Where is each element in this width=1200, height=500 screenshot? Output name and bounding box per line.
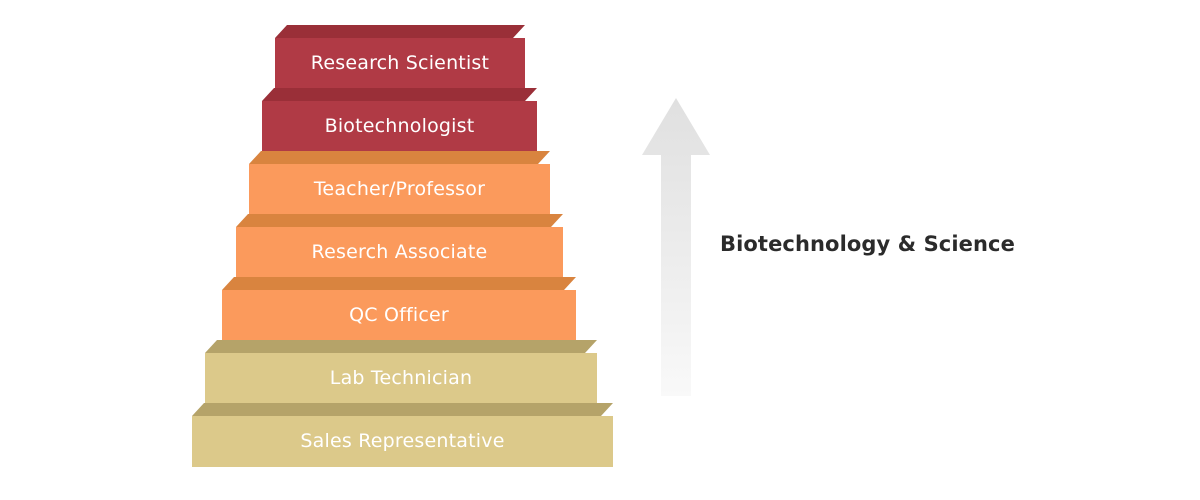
- pyramid-tier-top-face: [192, 403, 613, 416]
- pyramid-tier[interactable]: Biotechnologist: [262, 88, 537, 152]
- pyramid-tier-top-face: [262, 88, 537, 101]
- pyramid-tier-label: Research Scientist: [311, 54, 489, 73]
- upward-growth-arrow: [640, 96, 712, 398]
- pyramid-tier-top-face: [236, 214, 563, 227]
- pyramid-tier-top-face: [249, 151, 550, 164]
- pyramid-tier-front-face: Sales Representative: [192, 416, 613, 467]
- pyramid-tier-front-face: QC Officer: [222, 290, 576, 341]
- career-pyramid-infographic: Research ScientistBiotechnologistTeacher…: [0, 0, 1200, 500]
- pyramid-tier[interactable]: Sales Representative: [192, 403, 613, 467]
- pyramid-tier[interactable]: QC Officer: [222, 277, 576, 341]
- career-pyramid: Research ScientistBiotechnologistTeacher…: [0, 0, 660, 500]
- pyramid-tier-label: Sales Representative: [300, 432, 504, 451]
- pyramid-tier[interactable]: Lab Technician: [205, 340, 597, 404]
- pyramid-tier[interactable]: Teacher/Professor: [249, 151, 550, 215]
- pyramid-tier-label: Lab Technician: [330, 369, 472, 388]
- pyramid-tier-label: Teacher/Professor: [314, 180, 485, 199]
- pyramid-tier-label: QC Officer: [349, 306, 449, 325]
- pyramid-tier-top-face: [222, 277, 576, 290]
- pyramid-tier-front-face: Research Scientist: [275, 38, 525, 89]
- pyramid-tier-label: Biotechnologist: [325, 117, 475, 136]
- pyramid-tier-top-face: [275, 25, 525, 38]
- pyramid-tier-label: Reserch Associate: [312, 243, 488, 262]
- pyramid-tier[interactable]: Research Scientist: [275, 25, 525, 89]
- pyramid-tier-front-face: Lab Technician: [205, 353, 597, 404]
- pyramid-tier-front-face: Reserch Associate: [236, 227, 563, 278]
- pyramid-tier-front-face: Teacher/Professor: [249, 164, 550, 215]
- pyramid-tier[interactable]: Reserch Associate: [236, 214, 563, 278]
- pyramid-tier-front-face: Biotechnologist: [262, 101, 537, 152]
- pyramid-tier-top-face: [205, 340, 597, 353]
- caption-label: Biotechnology & Science: [720, 234, 1015, 255]
- arrow-up-icon: [640, 96, 712, 398]
